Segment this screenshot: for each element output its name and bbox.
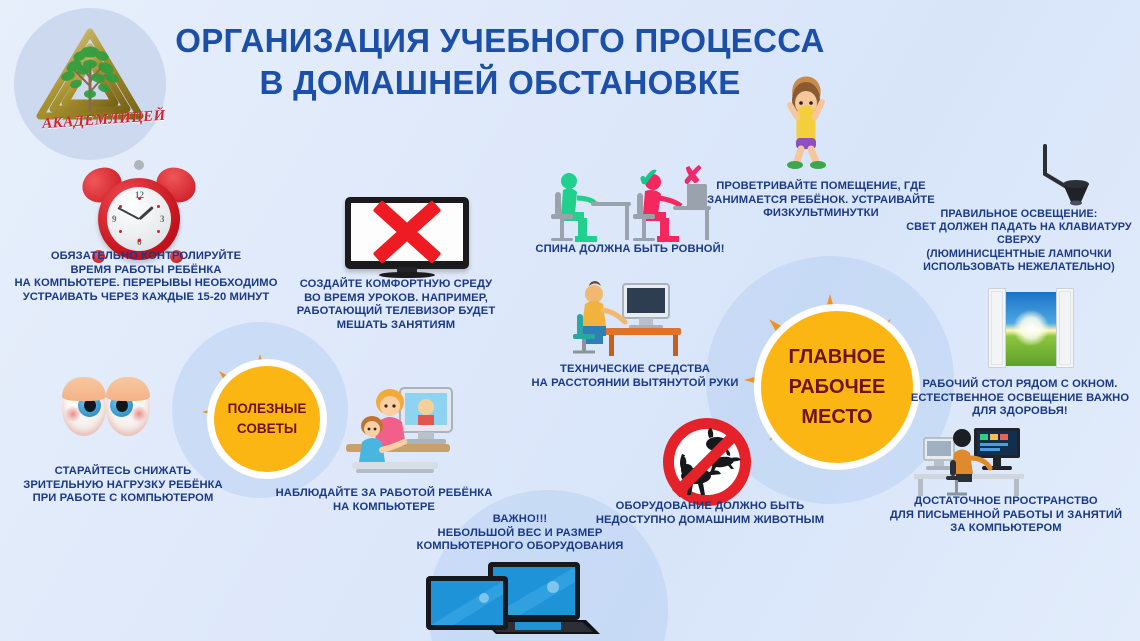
clock-knob (134, 160, 144, 170)
eyelid-left (62, 377, 106, 401)
posture-incorrect-mark: ✘ (682, 164, 703, 189)
technical-means-icon (565, 280, 685, 356)
caption-posture: СПИНА ДОЛЖНА БЫТЬ РОВНОЙ! (520, 243, 740, 257)
page-title: ОРГАНИЗАЦИЯ УЧЕБНОГО ПРОЦЕССА В ДОМАШНЕЙ… (150, 20, 850, 104)
clock-minute-hand (117, 207, 139, 220)
advice-sun-label: ПОЛЕЗНЫЕ СОВЕТЫ (207, 359, 327, 479)
main-sun-label: ГЛАВНОЕ РАБОЧЕЕ МЕСТО (754, 304, 920, 470)
window-sunburst (1013, 310, 1049, 346)
clock-numeral-9: 9 (112, 214, 117, 224)
window-leaf-right (1056, 288, 1074, 368)
eyeball-left (62, 380, 106, 436)
eyelid-right (106, 377, 150, 401)
open-window-icon (988, 288, 1074, 370)
caption-window: РАБОЧИЙ СТОЛ РЯДОМ С ОКНОМ. ЕСТЕСТВЕННОЕ… (900, 378, 1140, 419)
television-icon (345, 197, 469, 277)
clock-body: 12 3 6 9 (98, 178, 180, 260)
caption-eyes: СТАРАЙТЕСЬ СНИЖАТЬ ЗРИТЕЛЬНУЮ НАГРУЗКУ Р… (18, 465, 228, 506)
infographic-poster: АКАДЕМЛИЦЕЙ ОРГАНИЗАЦИЯ УЧЕБНОГО ПРОЦЕСС… (0, 0, 1140, 641)
alarm-clock-icon: 12 3 6 9 (84, 166, 194, 262)
window-leaf-left (988, 288, 1006, 368)
window-pane (1000, 292, 1062, 366)
clock-numeral-3: 3 (160, 214, 165, 224)
no-pets-sign-icon (663, 418, 751, 506)
logo-emblem-icon (14, 8, 166, 160)
laptops-icon (420, 560, 610, 638)
caption-family: НАБЛЮДАЙТЕ ЗА РАБОТОЙ РЕБЁНКА НА КОМПЬЮТ… (258, 487, 510, 514)
clock-hour-hand (138, 206, 153, 220)
stretching-child-icon (770, 70, 842, 170)
caption-pets: ОБОРУДОВАНИЕ ДОЛЖНО БЫТЬ НЕДОСТУПНО ДОМА… (582, 500, 838, 527)
school-logo: АКАДЕМЛИЦЕЙ (14, 8, 166, 160)
eyeball-right (106, 380, 150, 436)
family-at-computer-icon (330, 370, 462, 486)
caption-tv: СОЗДАЙТЕ КОМФОРТНУЮ СРЕДУ ВО ВРЕМЯ УРОКО… (280, 278, 512, 333)
caption-clock: ОБЯЗАТЕЛЬНО КОНТРОЛИРУЙТЕ ВРЕМЯ РАБОТЫ Р… (0, 250, 292, 305)
posture-correct-mark: ✔ (638, 166, 659, 191)
caption-workspace: ДОСТАТОЧНОЕ ПРОСТРАНСТВО ДЛЯ ПИСЬМЕННОЙ … (872, 495, 1140, 536)
red-cross-icon (367, 206, 447, 258)
workstation-icon (900, 420, 1032, 496)
tired-eyes-icon (62, 380, 154, 436)
caption-technical: ТЕХНИЧЕСКИЕ СРЕДСТВА НА РАССТОЯНИИ ВЫТЯН… (518, 363, 752, 390)
clock-face: 12 3 6 9 (107, 187, 171, 251)
